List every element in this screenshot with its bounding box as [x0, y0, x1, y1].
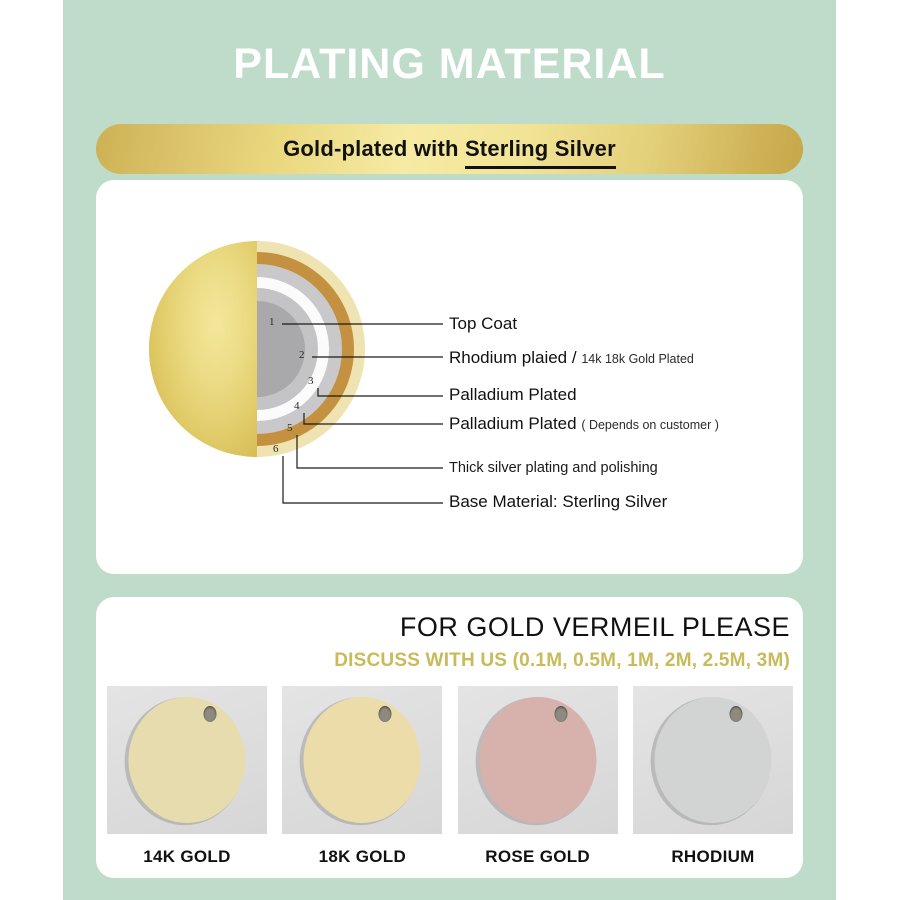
- plating-material-infographic: PLATING MATERIAL Gold-plated with Sterli…: [0, 0, 900, 900]
- disc-14k-gold: [129, 697, 246, 823]
- page-title: PLATING MATERIAL: [63, 38, 836, 90]
- gold-banner: Gold-plated with Sterling Silver: [96, 124, 803, 174]
- cross-section-sphere-diagram: [149, 241, 365, 457]
- disc-rose-gold: [479, 697, 596, 823]
- layer-label-2-text: Rhodium plaied /: [449, 348, 577, 367]
- banner-text-underlined: Sterling Silver: [465, 136, 616, 169]
- disc-hole-icon: [729, 706, 742, 722]
- disc-hole-icon: [203, 706, 216, 722]
- disc-rhodium: [654, 697, 771, 823]
- layer-label-4: Palladium Plated ( Depends on customer ): [449, 414, 719, 435]
- swatch-gallery: 14K GOLD 18K GOLD ROSE GOLD: [107, 686, 793, 871]
- disc-hole-icon: [554, 706, 567, 722]
- swatch-label: RHODIUM: [671, 847, 754, 867]
- swatch-label: ROSE GOLD: [485, 847, 590, 867]
- leader-number-1: 1: [269, 316, 275, 328]
- swatch-item[interactable]: RHODIUM: [633, 686, 793, 871]
- swatch-photo-rose: [458, 686, 618, 834]
- layer-label-3: Palladium Plated: [449, 385, 577, 405]
- banner-text-prefix: Gold-plated with: [283, 136, 465, 161]
- swatch-item[interactable]: 18K GOLD: [282, 686, 442, 871]
- leader-number-2: 2: [299, 349, 305, 361]
- leader-number-5: 5: [287, 422, 293, 434]
- layer-label-3-text: Palladium Plated: [449, 385, 577, 404]
- layer-label-5-text: Thick silver plating and polishing: [449, 460, 658, 476]
- layer-label-4-text: Palladium Plated: [449, 414, 577, 433]
- layer-label-6-text: Base Material: Sterling Silver: [449, 492, 667, 511]
- swatch-item[interactable]: ROSE GOLD: [458, 686, 618, 871]
- layer-label-4-note: ( Depends on customer ): [581, 418, 719, 432]
- layer-label-6: Base Material: Sterling Silver: [449, 492, 667, 512]
- swatch-photo-14k: [107, 686, 267, 834]
- leader-number-3: 3: [308, 375, 314, 387]
- swatch-photo-18k: [282, 686, 442, 834]
- leader-number-6: 6: [273, 443, 279, 455]
- gold-banner-text: Gold-plated with Sterling Silver: [283, 136, 616, 162]
- swatch-label: 14K GOLD: [143, 847, 230, 867]
- layer-label-1: Top Coat: [449, 314, 517, 334]
- vermeil-title: FOR GOLD VERMEIL PLEASE: [96, 612, 790, 643]
- disc-hole-icon: [379, 706, 392, 722]
- layer-label-2-note: 14k 18k Gold Plated: [581, 352, 694, 366]
- disc-18k-gold: [304, 697, 421, 823]
- swatch-photo-rhodium: [633, 686, 793, 834]
- leader-number-4: 4: [294, 400, 300, 412]
- vermeil-subtitle: DISCUSS WITH US (0.1M, 0.5M, 1M, 2M, 2.5…: [96, 650, 790, 672]
- layer-label-2: Rhodium plaied / 14k 18k Gold Plated: [449, 348, 694, 369]
- swatch-label: 18K GOLD: [319, 847, 406, 867]
- layer-label-1-text: Top Coat: [449, 314, 517, 333]
- sphere-gold-hemisphere: [149, 241, 257, 457]
- layer-label-5: Thick silver plating and polishing: [449, 458, 658, 478]
- swatch-item[interactable]: 14K GOLD: [107, 686, 267, 871]
